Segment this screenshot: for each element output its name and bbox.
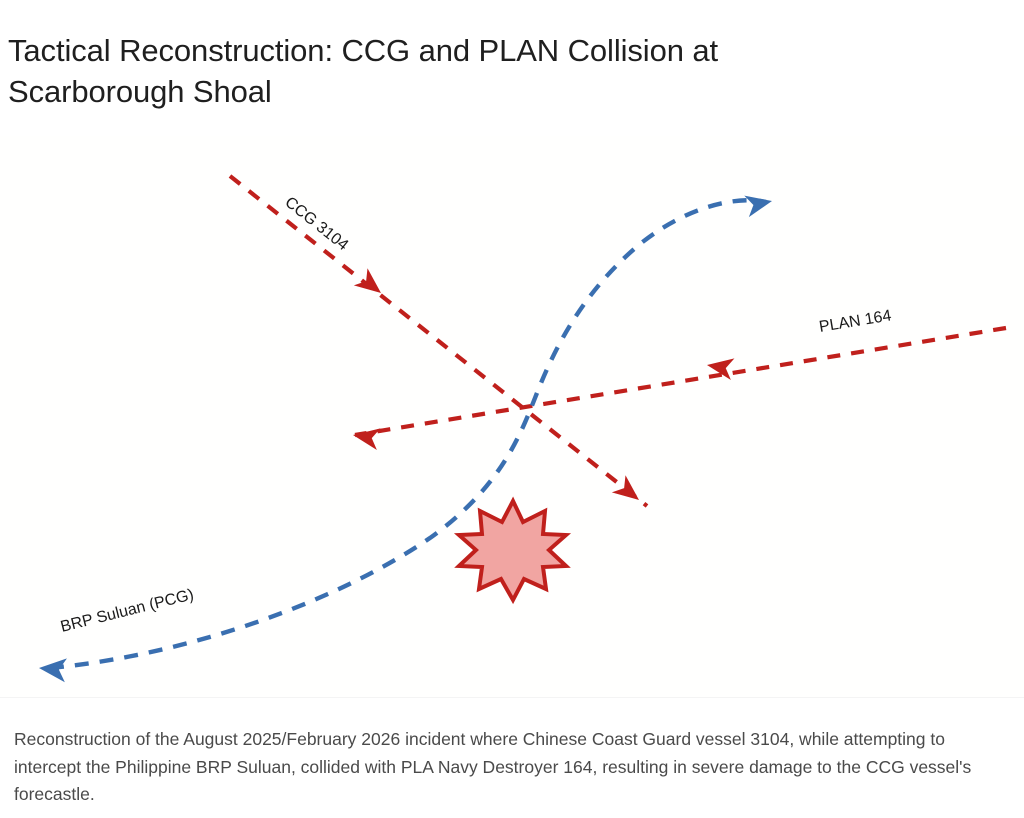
track-brp-suluan: BRP Suluan (PCG) [38,190,774,682]
figure-bottom-divider [0,697,1024,698]
track-plan-164: PLAN 164 [351,307,1006,450]
collision-burst-shape [459,501,566,600]
plan-end-arrow-icon [351,424,380,450]
brp-north-arrow-icon [744,190,774,217]
brp-south-arrow-icon [38,656,67,682]
tactical-reconstruction-diagram: CCG 3104 PLAN 164 BRP Suluan (PCG) [0,136,1024,698]
brp-suluan-label: BRP Suluan (PCG) [59,586,196,636]
ccg-3104-track-line [230,176,647,506]
figure-caption: Reconstruction of the August 2025/Februa… [14,726,1004,809]
figure-canvas: CCG 3104 PLAN 164 BRP Suluan (PCG) [0,136,1024,698]
collision-burst [459,501,566,600]
page-title: Tactical Reconstruction: CCG and PLAN Co… [8,30,908,112]
plan-164-label: PLAN 164 [818,307,893,336]
diagram-page: Tactical Reconstruction: CCG and PLAN Co… [0,0,1024,818]
track-ccg-3104: CCG 3104 [230,176,647,509]
plan-164-track-line [355,328,1006,435]
